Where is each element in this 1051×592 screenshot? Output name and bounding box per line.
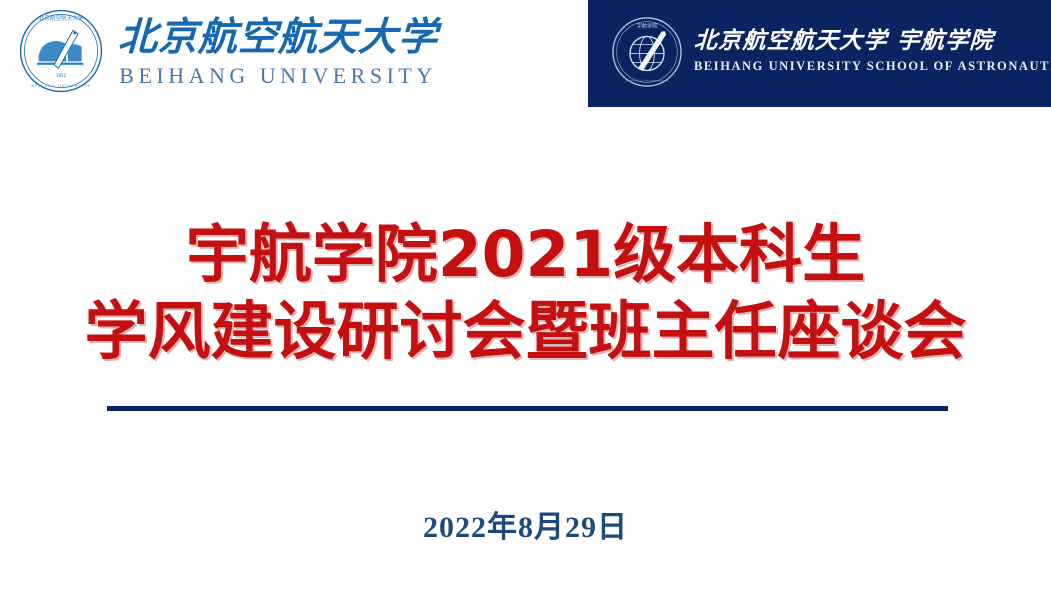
school-chinese-name: 北京航空航天大学 宇航学院 <box>693 29 1051 54</box>
svg-text:BEIHANG UNIVERSITY: BEIHANG UNIVERSITY <box>31 83 90 88</box>
school-wordmark: 北京航空航天大学 宇航学院 BEIHANG UNIVERSITY SCHOOL … <box>694 29 1051 73</box>
university-english-name: BEIHANG UNIVERSITY <box>119 65 436 87</box>
slide-title: 宇航学院2021级本科生 学风建设研讨会暨班主任座谈会 <box>0 218 1051 368</box>
presentation-title-slide: 北京航空航天大学 BEIHANG UNIVERSITY 1952 北京航空航天大… <box>0 0 1051 592</box>
svg-text:北京航空航天大学: 北京航空航天大学 <box>39 14 84 22</box>
university-wordmark: 北京航空航天大学 BEIHANG UNIVERSITY <box>118 18 438 87</box>
svg-text:1952: 1952 <box>56 73 67 78</box>
slide-date: 2022年8月29日 <box>0 502 1051 546</box>
university-logo-lockup: 北京航空航天大学 BEIHANG UNIVERSITY 1952 北京航空航天大… <box>18 8 438 94</box>
astronautics-school-globe-seal-icon: 宇航学院 School of Astronautics <box>610 15 684 89</box>
title-divider-rule <box>107 406 948 411</box>
title-line-2: 学风建设研讨会暨班主任座谈会 <box>0 295 1051 368</box>
school-english-name: BEIHANG UNIVERSITY SCHOOL OF ASTRONAUTIC… <box>694 60 1051 74</box>
school-of-astronautics-banner: 宇航学院 School of Astronautics 北京航空航天大学 宇航学… <box>588 0 1051 107</box>
title-line-1: 宇航学院2021级本科生 <box>0 218 1051 291</box>
beihang-university-seal-icon: 北京航空航天大学 BEIHANG UNIVERSITY 1952 <box>18 8 104 94</box>
university-chinese-name: 北京航空航天大学 <box>117 18 438 57</box>
svg-text:School of Astronautics: School of Astronautics <box>626 78 669 82</box>
